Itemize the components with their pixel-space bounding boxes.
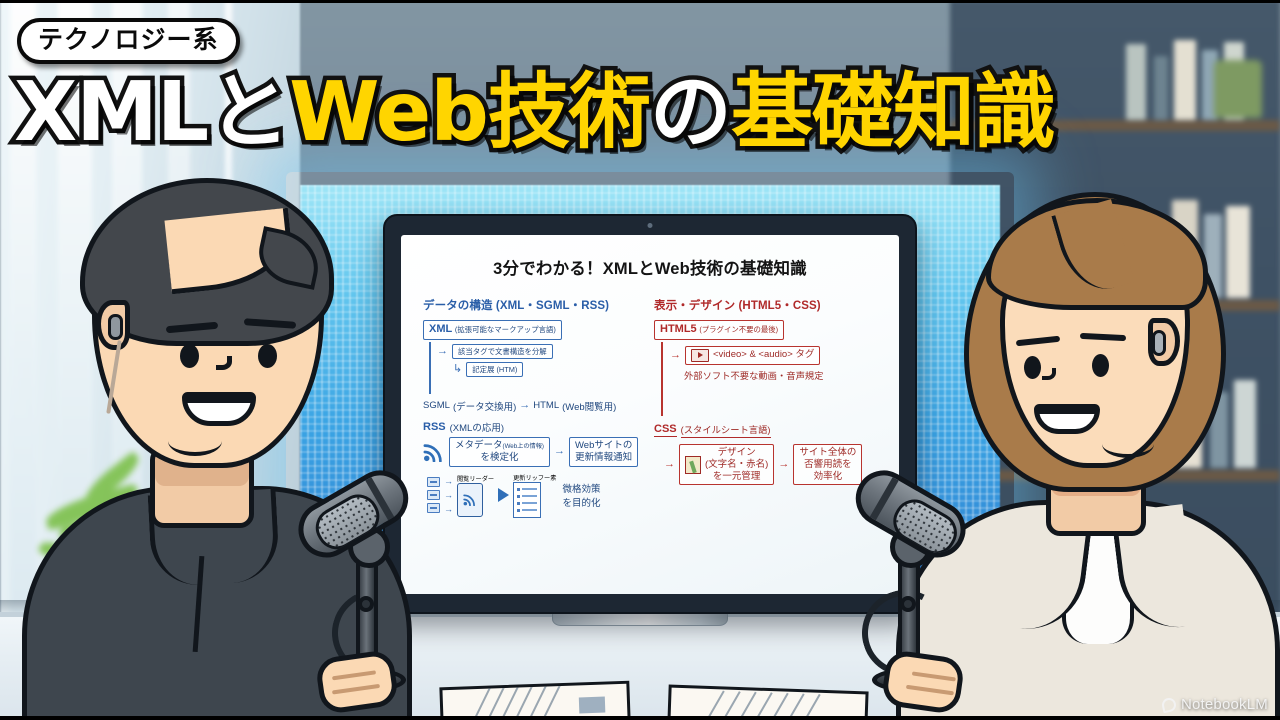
- page-title: XMLとWeb技術の基礎知識: [14, 72, 1274, 154]
- palette-icon: [685, 456, 701, 474]
- css-box2-line2: 否響用読を: [804, 459, 852, 470]
- css-box1-line3: を一元管理: [713, 471, 761, 482]
- monitor-screen: 3分でわかる！XMLとWeb技術の基礎知識 データの構造 (XML・SGML・R…: [401, 235, 899, 594]
- rss-box2-line1: Webサイトの: [575, 440, 632, 451]
- branch2-box: 記定展 (HTM): [466, 362, 523, 377]
- media-note: 外部ソフト不要な動画・音声規定: [684, 368, 877, 382]
- earbud-icon: [1152, 330, 1166, 356]
- host-right-eye: [1092, 354, 1109, 377]
- monitor: 3分でわかる！XMLとWeb技術の基礎知識 データの構造 (XML・SGML・R…: [383, 214, 917, 614]
- arrow-icon: →: [554, 446, 565, 457]
- feed-label: 更新リッフー素: [513, 473, 556, 482]
- rss-box1: メタデータ(Web上の情報) を検定化: [449, 437, 550, 467]
- title-part-3: の: [650, 65, 731, 160]
- rss-note: (XMLの応用): [450, 420, 504, 434]
- rss-box1-line2: を検定化: [480, 452, 518, 463]
- video-icon: [691, 349, 709, 362]
- css-box2-line1: サイト全体の: [799, 447, 856, 458]
- arrow-icon: →: [444, 477, 453, 486]
- arrow-icon: ↳: [453, 364, 462, 375]
- arrow-icon: →: [519, 400, 530, 411]
- source-card-icon: [427, 503, 440, 513]
- rss-box1-line1: メタデータ: [455, 440, 503, 451]
- host-right-chin: [1102, 430, 1154, 458]
- host-right-mouth-line: [1036, 406, 1098, 414]
- html5-note: (プラグイン不要の最後): [699, 325, 778, 334]
- category-badge: テクノロジー系: [17, 18, 240, 64]
- sgml-label: SGML: [423, 400, 450, 411]
- html-label: HTML: [533, 400, 559, 411]
- host-right-eye: [1024, 356, 1041, 379]
- right-section-heading: 表示・デザイン (HTML5・CSS): [654, 297, 877, 313]
- webcam-icon: [648, 223, 653, 228]
- branch1-box: 該当タグで文書構造を分解: [452, 344, 553, 359]
- paper-left: [439, 681, 630, 720]
- rss-label: RSS: [423, 421, 446, 433]
- slide-right-column: 表示・デザイン (HTML5・CSS) HTML5 (プラグイン不要の最後): [654, 297, 877, 518]
- watermark-label: NotebookLM: [1181, 696, 1268, 713]
- source-card-icon: [427, 477, 440, 487]
- arrow-icon: →: [664, 459, 675, 470]
- xml-box: XML (拡張可能なマークアップ言語): [423, 320, 562, 340]
- arrow-icon: →: [444, 505, 453, 514]
- media-box-text: <video> & <audio> タグ: [713, 349, 814, 361]
- css-box2-line3: 効率化: [814, 471, 843, 482]
- rss-icon: [423, 442, 445, 462]
- host-left-eye: [258, 344, 277, 368]
- host-left-chin: [168, 426, 222, 456]
- paper-right: [667, 685, 868, 720]
- flow-note-line2: を目的化: [562, 495, 600, 509]
- xml-label: XML: [429, 323, 452, 335]
- mic-knob-right: [900, 596, 916, 612]
- reader-tablet-icon: [457, 483, 483, 517]
- reader-label: 閲覧リーダー: [457, 474, 494, 483]
- arrow-icon: →: [444, 491, 453, 500]
- arrow-icon: →: [670, 350, 681, 361]
- css-box1: デザイン (文字名・赤名) を一元管理: [679, 444, 774, 486]
- sgml-note: (データ交換用): [453, 399, 516, 413]
- title-part-1: XMLと: [14, 65, 289, 160]
- arrow-icon: →: [778, 459, 789, 470]
- source-card-icon: [427, 490, 440, 500]
- earbud-icon: [108, 314, 123, 340]
- css-note: (スタイルシート言語): [681, 422, 771, 438]
- slide-content: 3分でわかる！XMLとWeb技術の基礎知識 データの構造 (XML・SGML・R…: [401, 235, 899, 594]
- rss-box1-note: (Web上の情報): [503, 443, 544, 450]
- css-box2: サイト全体の 否響用読を 効率化: [793, 444, 862, 486]
- html5-box: HTML5 (プラグイン不要の最後): [654, 320, 784, 340]
- feed-list-icon: [513, 482, 541, 518]
- host-left-mouth-line: [184, 394, 254, 403]
- letterbox-bottom: [0, 716, 1280, 720]
- title-part-2: Web技術: [289, 65, 650, 160]
- html5-label: HTML5: [660, 323, 697, 335]
- css-box1-line2: (文字名・赤名): [705, 459, 768, 470]
- letterbox-top: [0, 0, 1280, 3]
- rss-box2-line2: 更新情報通知: [575, 452, 632, 463]
- thumbnail-canvas: 3分でわかる！XMLとWeb技術の基礎知識 データの構造 (XML・SGML・R…: [0, 0, 1280, 720]
- rss-box2: Webサイトの 更新情報通知: [569, 437, 638, 467]
- arrow-icon: [498, 488, 509, 502]
- css-box1-line1: デザイン: [718, 447, 756, 458]
- css-label: CSS: [654, 423, 677, 437]
- host-left-eye: [180, 344, 199, 368]
- slide-title: 3分でわかる！XMLとWeb技術の基礎知識: [417, 255, 883, 279]
- flow-note-line1: 微格効策: [562, 481, 600, 495]
- notebooklm-logo-icon: [1161, 696, 1178, 713]
- slide-left-column: データの構造 (XML・SGML・RSS) XML (拡張可能なマークアップ言語…: [423, 297, 646, 518]
- arrow-icon: →: [437, 346, 448, 357]
- xml-note: (拡張可能なマークアップ言語): [455, 325, 556, 334]
- notebooklm-watermark: NotebookLM: [1162, 696, 1268, 713]
- title-part-4: 基礎知識: [731, 65, 1055, 160]
- left-section-heading: データの構造 (XML・SGML・RSS): [423, 297, 646, 313]
- html-note: (Web閲覧用): [562, 399, 616, 413]
- media-box: <video> & <audio> タグ: [685, 346, 820, 365]
- mic-knob-left: [358, 596, 374, 612]
